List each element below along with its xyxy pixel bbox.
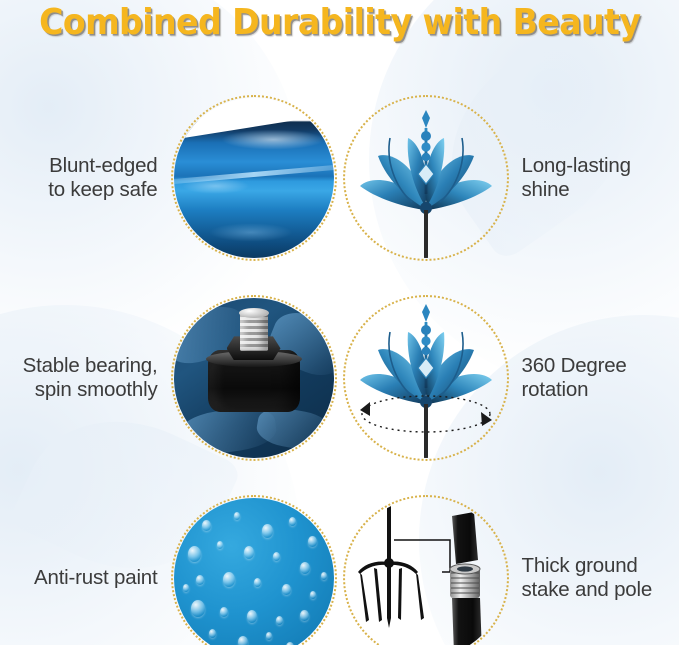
feature-label-line2: shine (522, 178, 679, 202)
infographic-page: Combined Durability with Beauty Blunt-ed… (0, 0, 679, 645)
feature-label-long-lasting-shine: Long-lasting shine (512, 154, 679, 202)
page-title-container: Combined Durability with Beauty (0, 2, 679, 43)
feature-media-spinner-rotation (346, 298, 506, 458)
feature-media-wind-spinner (346, 98, 506, 258)
page-title: Combined Durability with Beauty (39, 2, 640, 43)
feature-label-line2: spin smoothly (0, 378, 158, 402)
feature-label-360-rotation: 360 Degree rotation (512, 354, 679, 402)
dotted-ring (171, 495, 337, 645)
feature-label-thick-stake-pole: Thick ground stake and pole (512, 554, 679, 602)
feature-label-line1: Long-lasting (522, 154, 679, 178)
feature-label-line1: Blunt-edged (0, 154, 158, 178)
feature-media-water-droplets (174, 498, 334, 645)
feature-label-line2: rotation (522, 378, 679, 402)
feature-row: Stable bearing, spin smoothly (0, 278, 679, 478)
feature-label-line2: stake and pole (522, 578, 679, 602)
feature-row: Blunt-edged to keep safe (0, 78, 679, 278)
feature-label-stable-bearing: Stable bearing, spin smoothly (0, 354, 168, 402)
feature-row: Anti-rust paint (0, 478, 679, 645)
feature-label-anti-rust-paint: Anti-rust paint (0, 566, 168, 590)
feature-label-line1: Thick ground (522, 554, 679, 578)
feature-label-line1: 360 Degree (522, 354, 679, 378)
feature-media-stake-pole (346, 498, 506, 645)
feature-label-line1: Anti-rust paint (0, 566, 158, 590)
dotted-ring (343, 495, 509, 645)
feature-rows: Blunt-edged to keep safe (0, 78, 679, 645)
dotted-ring (343, 95, 509, 261)
dotted-ring (171, 95, 337, 261)
dotted-ring (343, 295, 509, 461)
feature-label-line2: to keep safe (0, 178, 158, 202)
dotted-ring (171, 295, 337, 461)
feature-media-bearing (174, 298, 334, 458)
feature-label-line1: Stable bearing, (0, 354, 158, 378)
feature-media-blade-edge (174, 98, 334, 258)
feature-label-blunt-edge: Blunt-edged to keep safe (0, 154, 168, 202)
